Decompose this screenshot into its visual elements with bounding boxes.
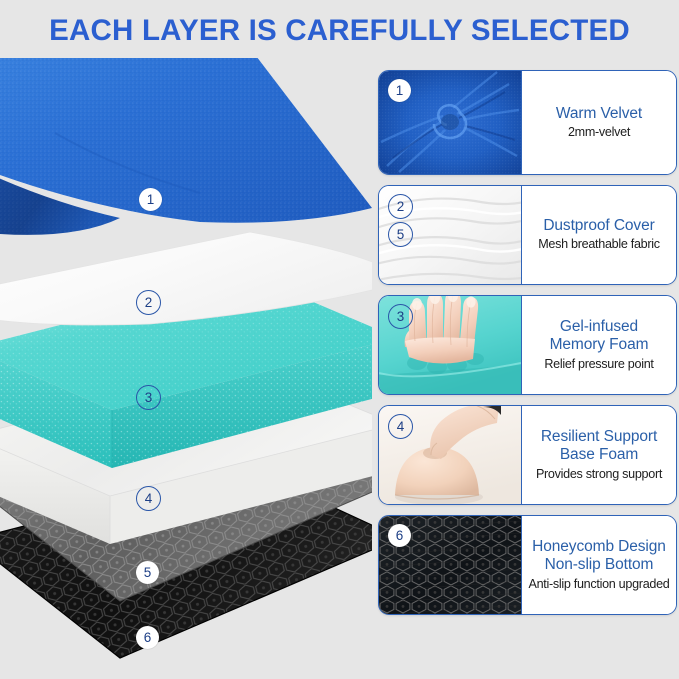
card-badge-5: 5: [388, 222, 413, 247]
stack-badge-4: 4: [136, 486, 161, 511]
card-title-line-2: Non-slip Bottom: [545, 556, 654, 574]
card-title-line-2: Base Foam: [560, 446, 638, 464]
card-subtitle: 2mm-velvet: [568, 125, 630, 140]
card-badge-group: 3: [388, 304, 413, 329]
hand-pressing-teal-foam: 3: [379, 296, 522, 394]
white-mesh-fabric-swatch: 2 5: [379, 186, 522, 284]
card-text-block: Gel-infused Memory Foam Relief pressure …: [522, 296, 676, 394]
card-subtitle: Provides strong support: [536, 467, 662, 482]
blue-velvet-fabric-swatch: 1: [379, 71, 522, 174]
card-badge-group: 4: [388, 414, 413, 439]
card-badge-2: 2: [388, 194, 413, 219]
stack-badge-1: 1: [139, 188, 162, 211]
card-subtitle: Anti-slip function upgraded: [528, 577, 669, 592]
card-badge-group: 6: [388, 524, 411, 547]
card-badge-group: 1: [388, 79, 411, 102]
stack-badge-5: 5: [136, 561, 159, 584]
layer-velvet-cover: [0, 58, 372, 676]
card-text-block: Resilient Support Base Foam Provides str…: [522, 406, 676, 504]
page-title: EACH LAYER IS CAREFULLY SELECTED: [0, 14, 679, 48]
card-subtitle: Relief pressure point: [544, 357, 653, 372]
card-text-block: Warm Velvet 2mm-velvet: [522, 71, 676, 174]
card-badge-1: 1: [388, 79, 411, 102]
card-gel-memory-foam[interactable]: 3 Gel-infused Memory Foam Relief pressur…: [378, 295, 677, 395]
card-text-block: Honeycomb Design Non-slip Bottom Anti-sl…: [522, 516, 676, 614]
stack-badge-6: 6: [136, 626, 159, 649]
card-title: Dustproof Cover: [543, 217, 654, 235]
card-honeycomb-bottom[interactable]: 6 Honeycomb Design Non-slip Bottom Anti-…: [378, 515, 677, 615]
card-subtitle: Mesh breathable fabric: [538, 237, 660, 252]
card-badge-group: 2 5: [388, 194, 413, 247]
card-badge-4: 4: [388, 414, 413, 439]
card-badge-3: 3: [388, 304, 413, 329]
card-resilient-base-foam[interactable]: 4 Resilient Support Base Foam Provides s…: [378, 405, 677, 505]
card-title-line-1: Gel-infused: [560, 318, 638, 336]
exploded-mattress-layer-stack: 1 2 3 4 5 6: [0, 58, 372, 676]
card-badge-6: 6: [388, 524, 411, 547]
stack-badge-2: 2: [136, 290, 161, 315]
card-title-line-2: Memory Foam: [550, 336, 649, 354]
card-text-block: Dustproof Cover Mesh breathable fabric: [522, 186, 676, 284]
card-title-line-1: Honeycomb Design: [532, 538, 666, 556]
black-honeycomb-mesh-swatch: 6: [379, 516, 522, 614]
card-warm-velvet[interactable]: 1 Warm Velvet 2mm-velvet: [378, 70, 677, 175]
feature-card-list: 1 Warm Velvet 2mm-velvet: [378, 70, 677, 625]
finger-pressing-foam-dome: 4: [379, 406, 522, 504]
card-dustproof-cover[interactable]: 2 5 Dustproof Cover Mesh breathable fabr…: [378, 185, 677, 285]
card-title: Warm Velvet: [556, 105, 642, 123]
stack-badge-3: 3: [136, 385, 161, 410]
card-title-line-1: Resilient Support: [541, 428, 657, 446]
